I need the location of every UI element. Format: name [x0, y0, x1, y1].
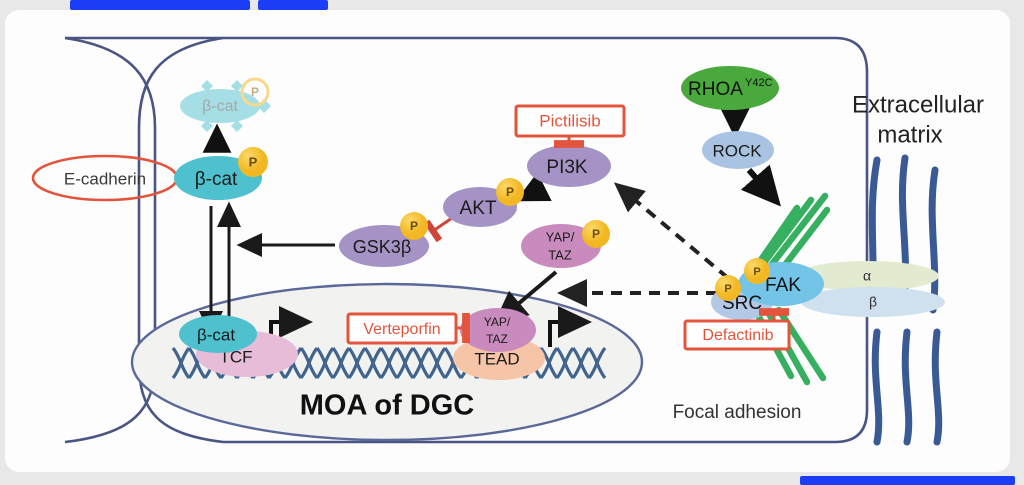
- fak-phospho: P: [744, 258, 770, 284]
- yaptaz-nucleus-label-line2: TAZ: [486, 332, 508, 346]
- rhoa-node[interactable]: RHOA Y42C: [681, 66, 779, 110]
- gsk3b-label: GSK3β: [353, 237, 411, 257]
- arrow-rock-to-actin: [749, 170, 777, 202]
- yaptaz-nucleus-node[interactable]: YAP/ TAZ: [460, 308, 536, 352]
- pi3k-label: PI3K: [546, 157, 588, 178]
- top-accent-bar-left: [70, 0, 250, 10]
- betacat-degraded-label: β-cat: [202, 98, 238, 115]
- akt-node[interactable]: AKT P: [443, 178, 524, 227]
- yaptaz-cyto-label-line2: TAZ: [548, 247, 572, 262]
- top-accent-bar-right: [258, 0, 328, 10]
- defactinib-label: Defactinib: [702, 327, 773, 344]
- pathway-diagram: α β E-cadherin: [5, 10, 1010, 472]
- drug-verteporfin[interactable]: Verteporfin: [348, 314, 466, 343]
- tead-label: TEAD: [474, 349, 519, 368]
- betacat-membrane-label: β-cat: [195, 169, 238, 190]
- akt-label: AKT: [460, 198, 497, 219]
- yaptaz-nucleus-label-line1: YAP/: [484, 315, 511, 329]
- extracellular-matrix-label-line2: matrix: [877, 121, 942, 148]
- pictilisib-label: Pictilisib: [539, 111, 600, 130]
- integrin-beta-label: β: [869, 294, 877, 310]
- betacat-nucleus-node[interactable]: β-cat: [179, 315, 257, 353]
- phospho-glyph: P: [753, 266, 760, 278]
- inhibition-akt-to-gsk3b: [433, 218, 452, 231]
- yaptaz-cyto-node[interactable]: YAP/ TAZ P: [521, 220, 610, 268]
- integrin-beta: β: [801, 287, 945, 317]
- fak-label: FAK: [765, 275, 801, 296]
- dashed-arrow-fak-to-pi3k: [617, 185, 728, 278]
- drug-pictilisib[interactable]: Pictilisib: [516, 106, 624, 144]
- phospho-glyph: P: [724, 283, 731, 295]
- src-phospho: P: [715, 275, 741, 301]
- e-cadherin-label: E-cadherin: [64, 169, 146, 188]
- phospho-glyph: P: [506, 185, 514, 199]
- pi3k-node[interactable]: PI3K: [527, 145, 611, 187]
- betacat-membrane-node[interactable]: β-cat P: [174, 147, 268, 200]
- yaptaz-cyto-label-line1: YAP/: [546, 229, 575, 244]
- rhoa-superscript: Y42C: [745, 77, 773, 89]
- phospho-glyph: P: [592, 227, 600, 241]
- integrin-alpha-label: α: [863, 268, 871, 284]
- rock-node[interactable]: ROCK: [702, 131, 774, 169]
- betacat-nucleus-label: β-cat: [197, 325, 235, 344]
- betacat-degraded-node[interactable]: β-cat P: [180, 79, 271, 132]
- extracellular-matrix-label-line1: Extracellular: [852, 91, 984, 118]
- figure-page: α β E-cadherin: [0, 0, 1024, 485]
- verteporfin-label: Verteporfin: [363, 321, 440, 338]
- gsk3b-node[interactable]: GSK3β P: [339, 212, 429, 267]
- phospho-glyph: P: [410, 219, 418, 233]
- rhoa-label: RHOA: [688, 79, 743, 100]
- phospho-glyph: P: [251, 85, 259, 99]
- bottom-accent-bar: [800, 476, 1015, 485]
- rock-label: ROCK: [712, 141, 762, 160]
- figure-card: α β E-cadherin: [5, 10, 1010, 472]
- focal-adhesion-label: Focal adhesion: [673, 402, 802, 423]
- phospho-glyph: P: [249, 154, 258, 169]
- moa-title: MOA of DGC: [300, 390, 475, 422]
